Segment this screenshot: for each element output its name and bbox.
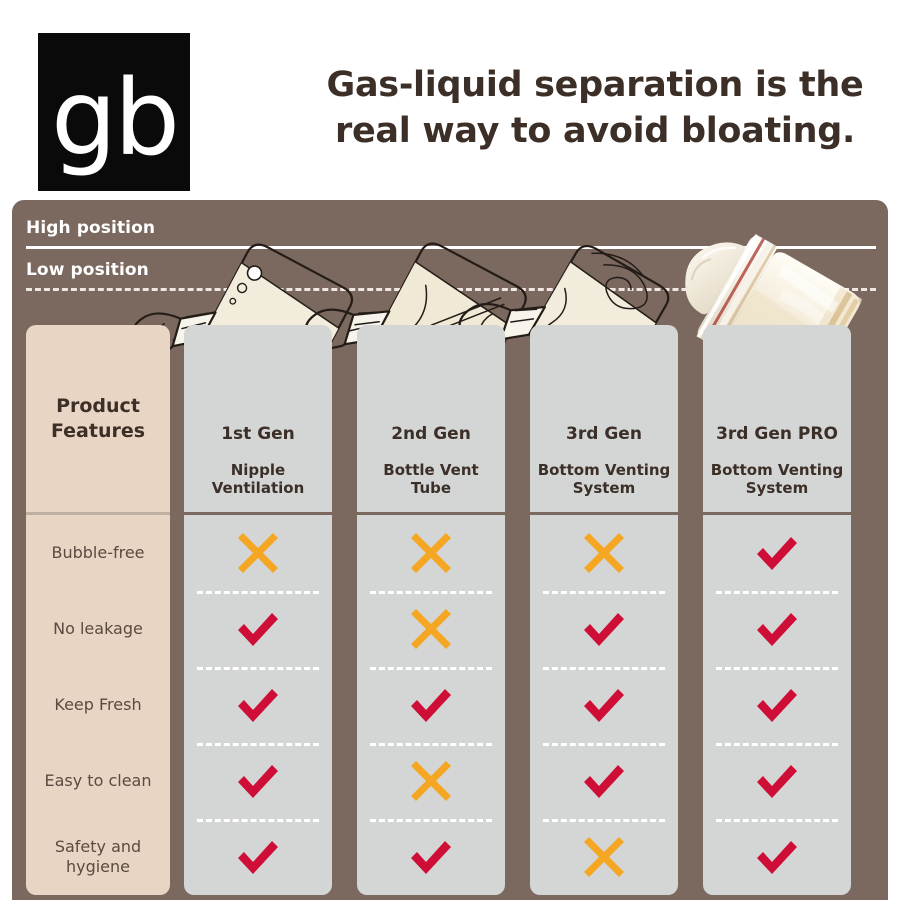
column-header-separator [703,512,851,515]
gen-system-line-2: System [573,479,635,497]
column-3rd-gen-pro: 3rd Gen PRO Bottom Venting System [703,325,851,895]
high-position-label: High position [26,218,155,238]
gb-logo-text: gb [51,66,177,170]
gen-system-line-1: Nipple [231,461,286,479]
gen-system: Nipple Ventilation [212,461,305,499]
column-header-separator [184,512,332,515]
table-cell [530,591,678,667]
gen-name: 2nd Gen [391,424,471,444]
feature-label: Keep Fresh [51,695,144,715]
column-3rd-gen: 3rd Gen Bottom Venting System [530,325,678,895]
check-icon [232,679,284,731]
gen-name: 3rd Gen PRO [716,424,838,444]
cross-icon [408,758,454,804]
table-cell [357,743,505,819]
gen-system: Bottle Vent Tube [383,461,478,499]
feature-row-no-leakage: No leakage [26,591,170,667]
check-icon [751,679,803,731]
cells-3rd-gen [530,515,678,895]
table-cell [703,743,851,819]
feature-label: Easy to clean [42,771,155,791]
table-cell [703,515,851,591]
check-icon [232,831,284,883]
poster-root: gb Gas-liquid separation is the real way… [0,0,900,900]
feature-row-easy-to-clean: Easy to clean [26,743,170,819]
feature-label: Bubble-free [48,543,147,563]
table-cell [703,819,851,895]
column-header-separator [357,512,505,515]
check-icon [578,679,630,731]
table-cell [530,743,678,819]
check-icon [751,527,803,579]
table-cell [530,819,678,895]
column-product-features: Product Features Bubble-free No leakage … [26,325,170,895]
table-cell [357,667,505,743]
cells-3rd-gen-pro [703,515,851,895]
column-1st-gen: 1st Gen Nipple Ventilation [184,325,332,895]
table-cell [184,667,332,743]
feature-row-bubble-free: Bubble-free [26,515,170,591]
gen-system-line-1: Bottom Venting [538,461,671,479]
check-icon [751,755,803,807]
column-2nd-gen-header: 2nd Gen Bottle Vent Tube [357,325,505,512]
table-cell [530,667,678,743]
cross-icon [408,530,454,576]
table-cell [530,515,678,591]
gen-system: Bottom Venting System [711,461,844,499]
gen-system-line-2: Tube [411,479,451,497]
feature-header-separator [26,512,170,515]
check-icon [405,679,457,731]
check-icon [751,831,803,883]
cross-icon [235,530,281,576]
table-cell [357,591,505,667]
feature-label: No leakage [50,619,146,639]
table-cell [184,515,332,591]
column-1st-gen-header: 1st Gen Nipple Ventilation [184,325,332,512]
comparison-table: Product Features Bubble-free No leakage … [12,325,888,900]
cells-2nd-gen [357,515,505,895]
column-3rd-gen-header: 3rd Gen Bottom Venting System [530,325,678,512]
table-cell [357,515,505,591]
column-2nd-gen: 2nd Gen Bottle Vent Tube [357,325,505,895]
gen-name: 1st Gen [221,424,295,444]
high-position-line [26,246,876,249]
headline-line-2: real way to avoid bloating. [300,108,890,154]
comparison-panel: High position Low position [12,200,888,900]
product-features-title-line-2: Features [51,419,145,444]
headline-line-1: Gas-liquid separation is the [327,65,864,105]
check-icon [405,831,457,883]
cells-1st-gen [184,515,332,895]
page-title: Gas-liquid separation is the real way to… [300,62,890,154]
feature-label: Safety and hygiene [52,837,144,876]
table-cell [703,591,851,667]
feature-label-rows: Bubble-free No leakage Keep Fresh Easy t… [26,515,170,895]
product-features-title-line-1: Product [56,394,140,419]
check-icon [232,755,284,807]
header: gb Gas-liquid separation is the real way… [0,0,900,200]
check-icon [578,755,630,807]
table-cell [703,667,851,743]
column-header-separator [530,512,678,515]
column-3rd-gen-pro-header: 3rd Gen PRO Bottom Venting System [703,325,851,512]
low-position-label: Low position [26,260,149,280]
table-cell [184,819,332,895]
check-icon [578,603,630,655]
gen-system-line-2: System [746,479,808,497]
gen-system-line-1: Bottle Vent [383,461,478,479]
check-icon [232,603,284,655]
gen-system-line-1: Bottom Venting [711,461,844,479]
feature-row-safety-and-hygiene: Safety and hygiene [26,819,170,895]
low-position-line [26,288,876,291]
cross-icon [581,530,627,576]
cross-icon [581,834,627,880]
table-cell [184,743,332,819]
feature-row-keep-fresh: Keep Fresh [26,667,170,743]
gen-name: 3rd Gen [566,424,642,444]
table-cell [184,591,332,667]
feature-label-line-1: Safety and [55,837,141,856]
product-features-header: Product Features [26,325,170,512]
gen-system-line-2: Ventilation [212,479,305,497]
cross-icon [408,606,454,652]
feature-label-line-2: hygiene [66,857,130,876]
table-cell [357,819,505,895]
gb-logo: gb [38,33,190,191]
gen-system: Bottom Venting System [538,461,671,499]
check-icon [751,603,803,655]
